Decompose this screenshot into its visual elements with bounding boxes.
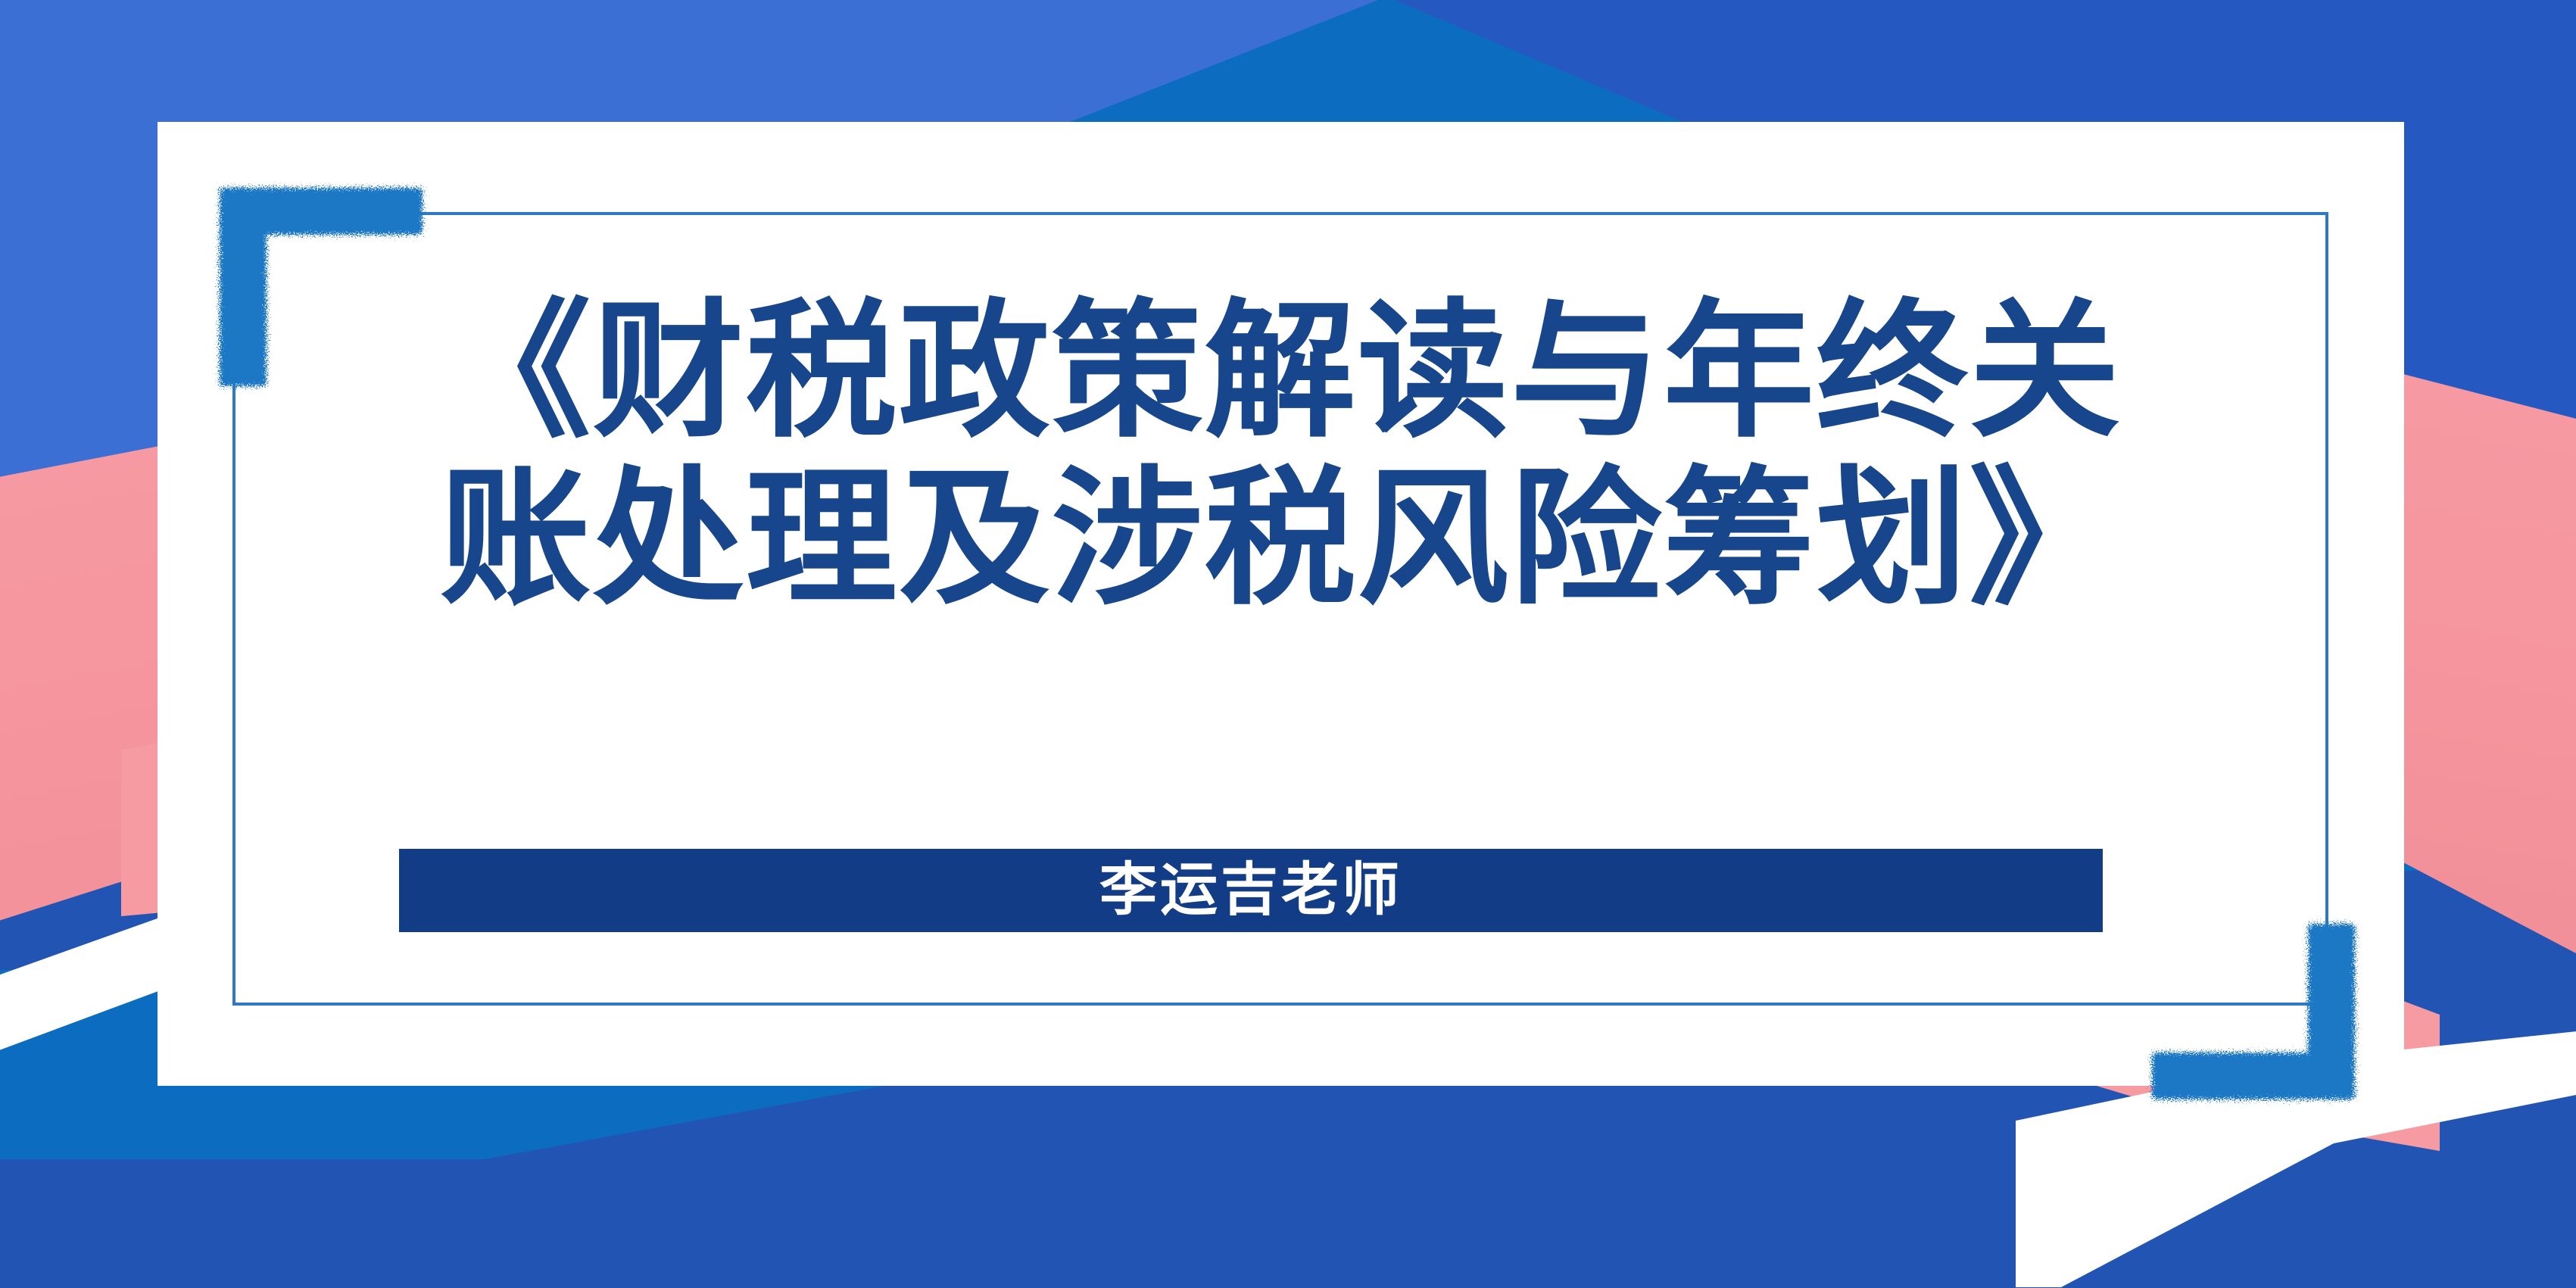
poster-canvas: 《财税政策解读与年终关 账处理及涉税风险筹划》 李运吉老师 <box>0 0 2576 1288</box>
speaker-name: 李运吉老师 <box>1099 862 1402 919</box>
title-line-1: 《财税政策解读与年终关 <box>135 288 2426 455</box>
poster-title: 《财税政策解读与年终关 账处理及涉税风险筹划》 <box>157 288 2404 623</box>
speaker-banner: 李运吉老师 <box>399 849 2103 932</box>
title-line-2: 账处理及涉税风险筹划》 <box>135 455 2426 622</box>
